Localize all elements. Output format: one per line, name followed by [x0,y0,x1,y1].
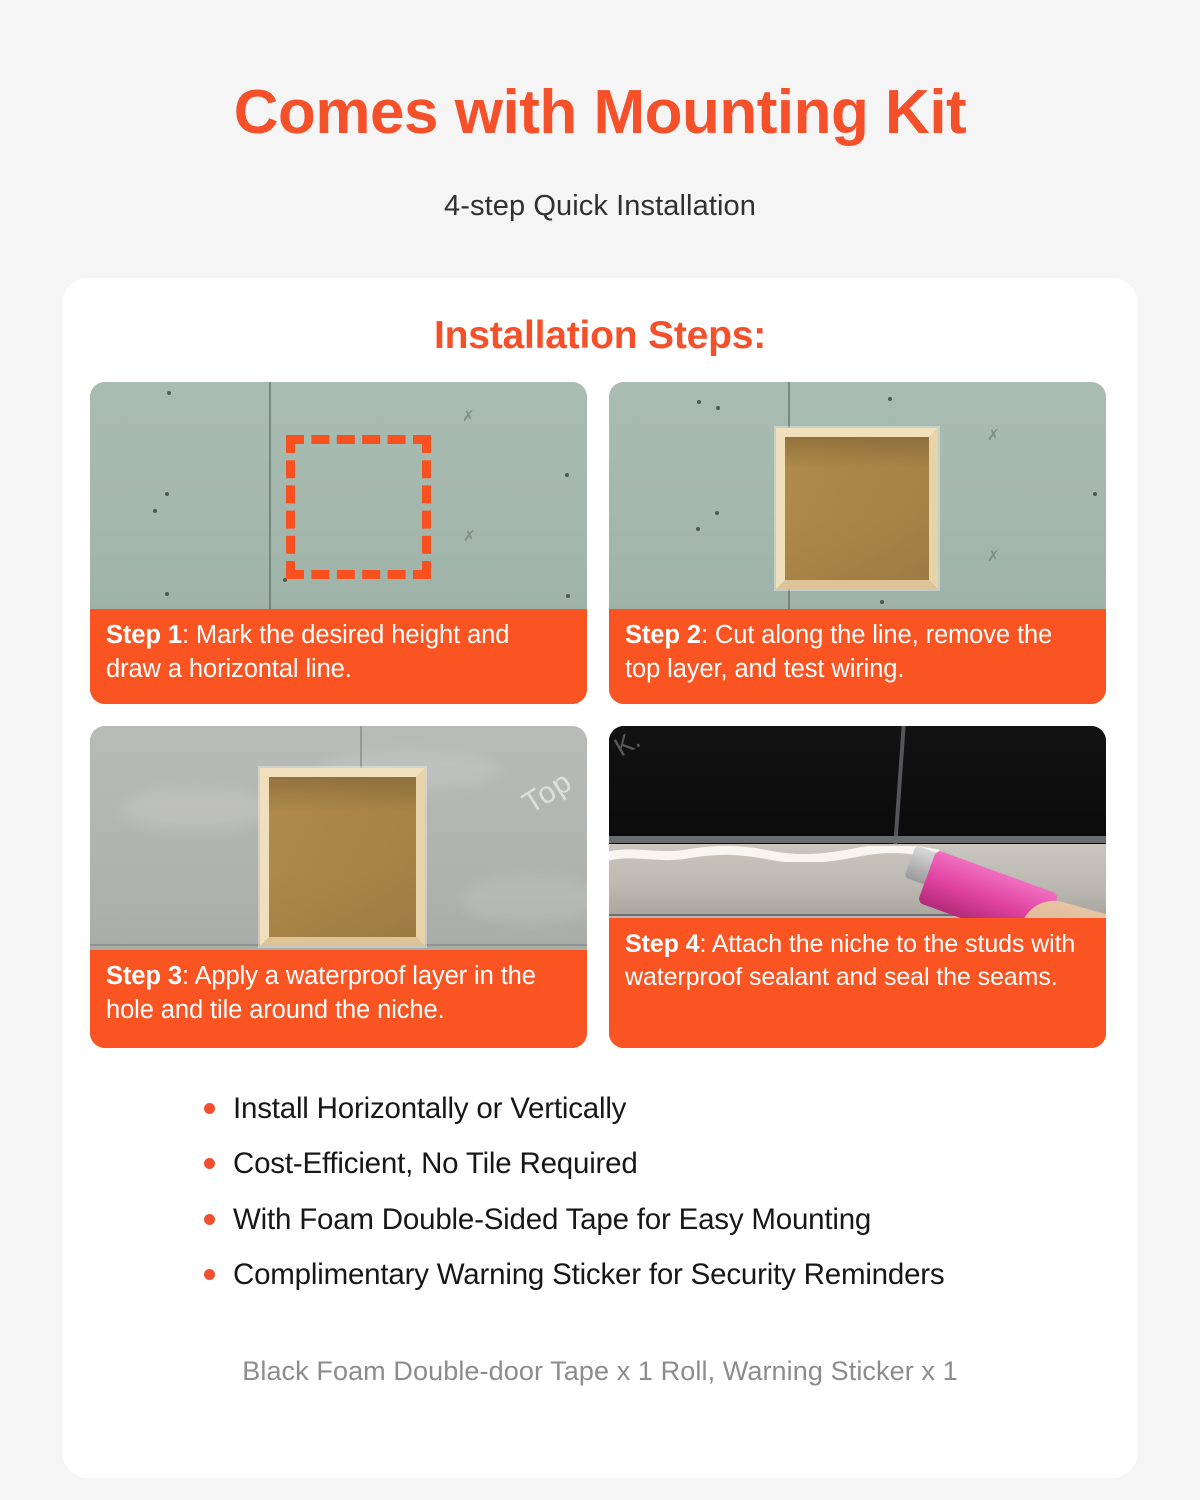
bullet-dot-icon [204,1158,215,1169]
niche-shadow [269,777,416,937]
page-subtitle: 4-step Quick Installation [0,190,1200,223]
list-item: With Foam Double-Sided Tape for Easy Mou… [204,1201,1064,1239]
step-1-label: Step 1 [106,621,182,649]
cut-opening [776,428,938,589]
installed-niche [260,768,425,946]
screw-dot [715,511,719,515]
screw-dot [1093,492,1097,496]
screw-dot [153,509,157,513]
feature-text: With Foam Double-Sided Tape for Easy Mou… [233,1201,871,1239]
step-4-separator: : [699,930,711,958]
step-card-1[interactable]: ✗ ✗ Step 1: Mark the desired height and … [90,382,587,704]
page-title: Comes with Mounting Kit [0,82,1200,144]
step-2-label: Step 2 [625,621,701,649]
marking-outline [286,435,431,579]
step-4-caption: Step 4: Attach the niche to the studs wi… [609,918,1106,1048]
list-item: Cost-Efficient, No Tile Required [204,1145,1064,1183]
faint-pencil-mark: ✗ [987,547,1000,566]
bullet-dot-icon [204,1103,215,1114]
screw-dot [565,473,569,477]
screw-dot [696,527,700,531]
step-1-caption: Step 1: Mark the desired height and draw… [90,609,587,704]
step-3-label: Step 3 [106,962,182,990]
step-2-separator: : [701,621,715,649]
step-3-separator: : [182,962,195,990]
list-item: Complimentary Warning Sticker for Securi… [204,1256,1064,1294]
step-1-separator: : [182,621,196,649]
feature-text: Cost-Efficient, No Tile Required [233,1145,638,1183]
screw-dot [880,600,884,604]
list-item: Install Horizontally or Vertically [204,1090,1064,1128]
screw-dot [888,397,892,401]
step-4-label: Step 4 [625,930,699,958]
dark-tile-upper [609,726,1106,854]
faint-pencil-mark: ✗ [987,426,1000,445]
section-title: Installation Steps: [62,314,1138,358]
opening-shadow [785,437,929,580]
feature-list: Install Horizontally or Vertically Cost-… [204,1090,1064,1311]
faint-pencil-mark: ✗ [463,527,476,546]
screw-dot [165,492,169,496]
screw-dot [165,592,169,596]
screw-dot [167,391,171,395]
screw-dot [716,406,720,410]
step-card-3[interactable]: Top Step 3: Apply a waterproof layer in … [90,726,587,1048]
step-3-caption: Step 3: Apply a waterproof layer in the … [90,950,587,1048]
step-2-caption: Step 2: Cut along the line, remove the t… [609,609,1106,704]
screw-dot [697,400,701,404]
tile-grout-line [609,836,1106,843]
installation-steps-grid: ✗ ✗ Step 1: Mark the desired height and … [90,382,1110,1048]
step-card-2[interactable]: ✗ ✗ Step 2: Cut along the line, remove t… [609,382,1106,704]
screw-dot [566,594,570,598]
tile-grout-line [360,726,362,768]
feature-text: Complimentary Warning Sticker for Securi… [233,1256,944,1294]
caulk-bead [609,846,939,862]
bullet-dot-icon [204,1214,215,1225]
product-infographic-page: Comes with Mounting Kit 4-step Quick Ins… [0,0,1200,1500]
faint-pencil-mark: ✗ [462,407,475,426]
installation-card: Installation Steps: ✗ ✗ Step 1: Ma [62,278,1138,1478]
included-accessories-note: Black Foam Double-door Tape x 1 Roll, Wa… [62,1356,1138,1387]
texture-blotch [460,876,587,924]
step-card-4[interactable]: K. Step 4: Attach the niche to the studs… [609,726,1106,1048]
feature-text: Install Horizontally or Vertically [233,1090,626,1128]
texture-blotch [120,786,270,832]
bullet-dot-icon [204,1269,215,1280]
